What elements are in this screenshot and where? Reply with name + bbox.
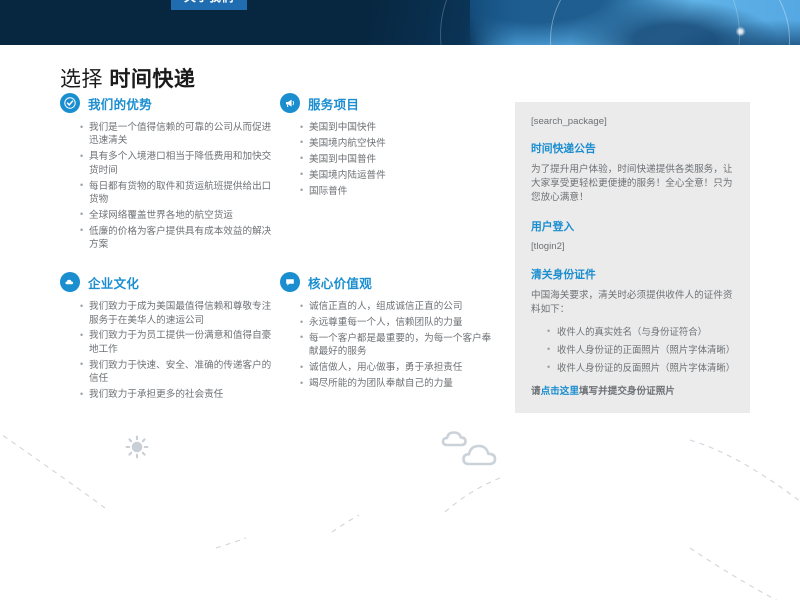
page-title-prefix: 选择 [60, 68, 103, 91]
list-item: 收件人身份证的反面照片（照片字体清晰） [547, 361, 734, 374]
page-body: 选择 时间快递 我们的优势 我们是一个值得信赖的可靠的公司从而促进迅速清关 具有… [0, 45, 800, 93]
list-item: 我们是一个值得信赖的可靠的公司从而促进迅速清关 [80, 121, 280, 148]
list-item: 低廉的价格为客户提供具有成本效益的解决方案 [80, 225, 280, 252]
footer-prefix: 请 [531, 386, 541, 397]
page-title: 选择 时间快递 [60, 63, 800, 93]
list-item: 每日都有货物的取件和货运航班提供给出口货物 [80, 180, 280, 207]
feature-block-advantages: 我们的优势 我们是一个值得信赖的可靠的公司从而促进迅速清关 具有多个入境港口相当… [60, 91, 280, 254]
customs-id-heading: 清关身份证件 [531, 266, 734, 282]
customs-submit-line: 请点击这里填写并提交身份证照片 [531, 383, 734, 397]
customs-intro: 中国海关要求，清关时必须提供收件人的证件资料如下： [531, 289, 734, 317]
notice-body: 为了提升用户体验，时间快递提供各类服务，让大家享受更轻松更便捷的服务！全心全意！… [531, 163, 734, 205]
list-item: 全球网络覆盖世界各地的航空货运 [80, 209, 280, 222]
feature-list: 美国到中国快件 美国境内航空快件 美国到中国普件 美国境内陆运普件 国际普件 [300, 121, 500, 198]
feature-header: 我们的优势 [60, 91, 280, 115]
list-item: 诚信做人，用心做事，勇于承担责任 [300, 361, 500, 374]
feature-title: 我们的优势 [88, 94, 152, 113]
page-title-brand: 时间快递 [109, 68, 195, 91]
list-item: 我们致力于成为美国最值得信赖和尊敬专注服务于在美华人的速运公司 [80, 300, 280, 327]
list-item: 美国到中国普件 [300, 153, 500, 166]
speech-bubble-icon [280, 272, 300, 292]
feature-block-services: 服务项目 美国到中国快件 美国境内航空快件 美国到中国普件 美国境内陆运普件 国… [280, 91, 500, 254]
list-item: 我们致力于快速、安全、准确的传递客户的信任 [80, 359, 280, 386]
feature-list: 诚信正直的人，组成诚信正直的公司 永远尊重每一个人，信赖团队的力量 每一个客户都… [300, 300, 500, 390]
search-package-shortcode: [search_package] [531, 116, 734, 127]
feature-block-core-values: 核心价值观 诚信正直的人，组成诚信正直的公司 永远尊重每一个人，信赖团队的力量 … [280, 270, 500, 404]
list-item: 永远尊重每一个人，信赖团队的力量 [300, 316, 500, 329]
feature-block-culture: 企业文化 我们致力于成为美国最值得信赖和尊敬专注服务于在美华人的速运公司 我们致… [60, 270, 280, 404]
feature-list: 我们致力于成为美国最值得信赖和尊敬专注服务于在美华人的速运公司 我们致力于为员工… [80, 300, 280, 401]
user-login-heading: 用户登入 [531, 218, 734, 234]
list-item: 具有多个入境港口相当于降低费用和加快交货时间 [80, 150, 280, 177]
site-header-banner: 关于我们 [0, 0, 800, 45]
feature-columns: 我们的优势 我们是一个值得信赖的可靠的公司从而促进迅速清关 具有多个入境港口相当… [60, 91, 500, 420]
feature-title: 企业文化 [88, 273, 139, 292]
list-item: 美国境内陆运普件 [300, 169, 500, 182]
feature-title: 服务项目 [308, 94, 359, 113]
login-shortcode: [tlogin2] [531, 241, 734, 252]
cloud-icon [60, 272, 80, 292]
feature-title: 核心价值观 [308, 273, 372, 292]
check-circle-icon [60, 93, 80, 113]
notice-heading: 时间快递公告 [531, 140, 734, 156]
decorative-arc [440, 0, 740, 45]
click-here-link[interactable]: 点击这里 [541, 386, 579, 397]
cloud-icon [438, 424, 516, 475]
list-item: 我们致力于为员工提供一份满意和值得自豪地工作 [80, 329, 280, 356]
sun-icon [125, 435, 147, 457]
feature-list: 我们是一个值得信赖的可靠的公司从而促进迅速清关 具有多个入境港口相当于降低费用和… [80, 121, 280, 252]
feature-header: 核心价值观 [280, 270, 500, 294]
list-item: 竭尽所能的为团队奉献自己的力量 [300, 377, 500, 390]
showcase-section: 贴心服务 专业清关 [0, 400, 800, 600]
list-item: 诚信正直的人，组成诚信正直的公司 [300, 300, 500, 313]
feature-header: 企业文化 [60, 270, 280, 294]
list-item: 收件人的真实姓名（与身份证符合） [547, 325, 734, 338]
megaphone-icon [280, 93, 300, 113]
list-item: 国际普件 [300, 185, 500, 198]
right-sidebar: [search_package] 时间快递公告 为了提升用户体验，时间快递提供各… [515, 102, 750, 413]
feature-header: 服务项目 [280, 91, 500, 115]
list-item: 每一个客户都是最重要的，为每一个客户奉献最好的服务 [300, 332, 500, 359]
list-item: 美国境内航空快件 [300, 137, 500, 150]
dashed-route-decoration [0, 400, 800, 600]
list-item: 美国到中国快件 [300, 121, 500, 134]
customs-requirements-list: 收件人的真实姓名（与身份证符合） 收件人身份证的正面照片（照片字体清晰） 收件人… [547, 325, 734, 374]
nav-item-about-us[interactable]: 关于我们 [171, 0, 247, 10]
footer-suffix: 填写并提交身份证照片 [579, 386, 675, 397]
main-content: 选择 时间快递 我们的优势 我们是一个值得信赖的可靠的公司从而促进迅速清关 具有… [0, 45, 800, 93]
list-item: 收件人身份证的正面照片（照片字体清晰） [547, 343, 734, 356]
